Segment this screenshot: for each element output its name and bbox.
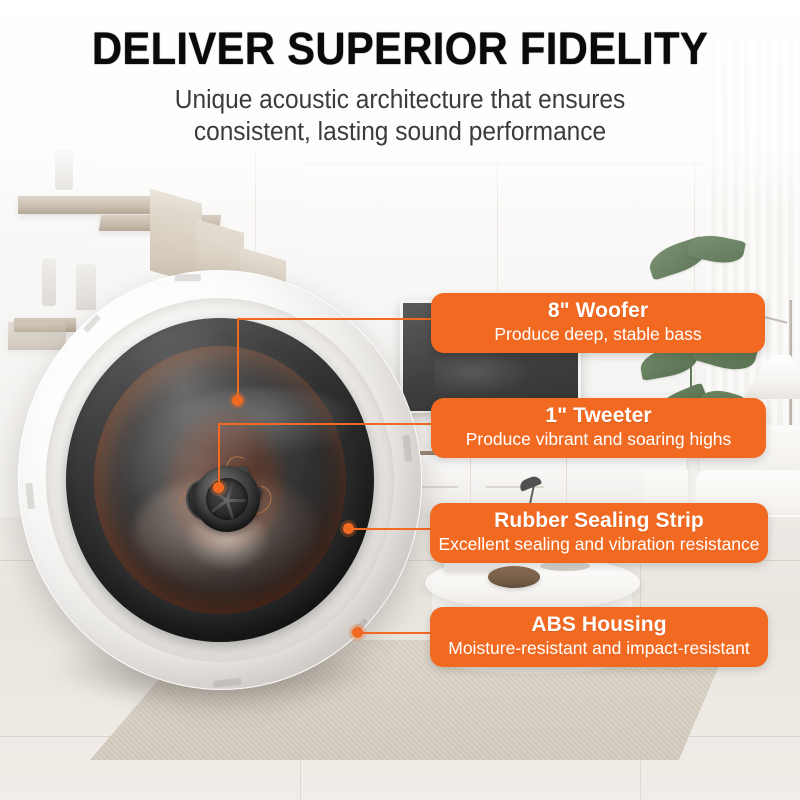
- callout-tweeter[interactable]: 1" Tweeter Produce vibrant and soaring h…: [431, 398, 766, 458]
- callout-rubber-sealing-strip-subtitle: Excellent sealing and vibration resistan…: [439, 534, 760, 555]
- callout-woofer-subtitle: Produce deep, stable bass: [494, 324, 701, 345]
- callout-woofer[interactable]: 8" Woofer Produce deep, stable bass: [431, 293, 765, 353]
- housing-notch: [174, 274, 200, 281]
- header: DELIVER SUPERIOR FIDELITY Unique acousti…: [0, 0, 800, 165]
- callout-tweeter-subtitle: Produce vibrant and soaring highs: [466, 429, 732, 450]
- housing-notch: [402, 435, 412, 462]
- hotspot-dot-tweeter: [213, 482, 224, 493]
- callout-rubber-sealing-strip[interactable]: Rubber Sealing Strip Excellent sealing a…: [430, 503, 768, 563]
- tweeter-spoke: [227, 499, 246, 502]
- leader-line-tweeter-vertical: [218, 423, 220, 487]
- hotspot-dot-abs-housing: [352, 627, 363, 638]
- callout-rubber-sealing-strip-title: Rubber Sealing Strip: [494, 509, 704, 533]
- callout-abs-housing-title: ABS Housing: [531, 613, 666, 637]
- subtitle-line-2: consistent, lasting sound performance: [16, 116, 784, 148]
- housing-notch: [83, 314, 101, 333]
- housing-notch: [25, 483, 35, 510]
- leader-line-tweeter: [218, 423, 432, 425]
- tweeter-face: [206, 478, 248, 520]
- callout-abs-housing-subtitle: Moisture-resistant and impact-resistant: [448, 638, 750, 659]
- hotspot-dot-woofer: [232, 395, 243, 406]
- tweeter-spoke: [226, 500, 235, 519]
- callout-woofer-title: 8" Woofer: [548, 299, 648, 323]
- hotspot-dot-rubber-sealing-strip: [343, 523, 354, 534]
- callout-tweeter-title: 1" Tweeter: [545, 404, 651, 428]
- page-subtitle: Unique acoustic architecture that ensure…: [16, 71, 784, 148]
- subtitle-line-1: Unique acoustic architecture that ensure…: [16, 84, 784, 116]
- callout-abs-housing[interactable]: ABS Housing Moisture-resistant and impac…: [430, 607, 768, 667]
- housing-notch: [213, 678, 242, 688]
- product-feature-banner: DELIVER SUPERIOR FIDELITY Unique acousti…: [0, 0, 800, 800]
- leader-line-abs-housing: [362, 632, 432, 634]
- leader-line-woofer-vertical: [237, 318, 239, 400]
- leader-line-rubber-sealing-strip: [352, 528, 432, 530]
- leader-line-woofer: [237, 318, 433, 320]
- page-title: DELIVER SUPERIOR FIDELITY: [28, 0, 772, 71]
- tweeter-assembly: [184, 460, 268, 540]
